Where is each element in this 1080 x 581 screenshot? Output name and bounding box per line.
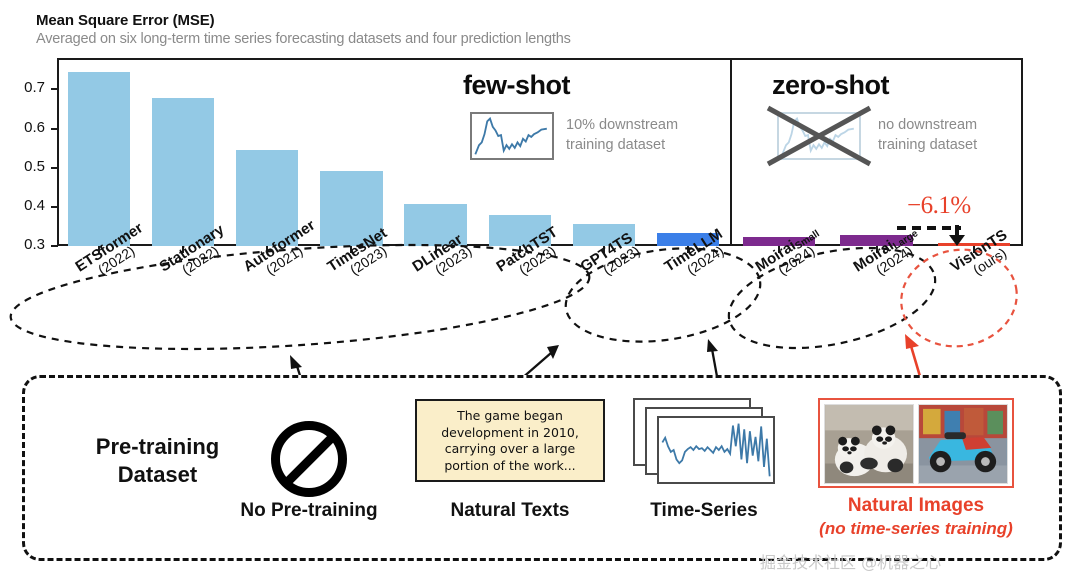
y-tick-label: 0.4 bbox=[5, 197, 45, 214]
zero-shot-desc-line2: training dataset bbox=[878, 136, 1038, 156]
category-label-natural-texts: Natural Texts bbox=[412, 500, 608, 522]
page-subtitle: Averaged on six long-term time series fo… bbox=[36, 31, 571, 47]
category-label-time-series: Time-Series bbox=[606, 500, 802, 522]
few-shot-desc-line2: training dataset bbox=[566, 136, 726, 156]
zero-shot-desc-line1: no downstream bbox=[878, 116, 1038, 136]
few-shot-title: few-shot bbox=[463, 70, 570, 101]
y-tick-label: 0.5 bbox=[5, 158, 45, 175]
y-tick-label: 0.3 bbox=[5, 236, 45, 253]
y-tick-label: 0.6 bbox=[5, 119, 45, 136]
few-shot-description: 10% downstream training dataset bbox=[566, 116, 726, 155]
zero-shot-description: no downstream training dataset bbox=[878, 116, 1038, 155]
category-label-no-pretraining: No Pre-training bbox=[211, 500, 407, 522]
few-shot-desc-line1: 10% downstream bbox=[566, 116, 726, 136]
category-label-natural-images: Natural Images bbox=[818, 495, 1014, 517]
natural-text-card: The game began development in 2010, carr… bbox=[415, 399, 605, 482]
pretraining-dataset-title: Pre-training Dataset bbox=[50, 433, 265, 488]
zero-shot-title: zero-shot bbox=[772, 70, 889, 101]
photo-pandas bbox=[824, 404, 914, 484]
bar-stationary bbox=[152, 98, 214, 246]
pretraining-title-line2: Dataset bbox=[50, 461, 265, 489]
cross-out-icon bbox=[764, 104, 874, 168]
photo-atv bbox=[918, 404, 1008, 484]
few-shot-thumbnail bbox=[470, 112, 554, 160]
improvement-label: −6.1% bbox=[907, 192, 971, 220]
timeseries-card-front bbox=[657, 416, 775, 484]
y-tick-label: 0.7 bbox=[5, 79, 45, 96]
bar-etsformer bbox=[68, 72, 130, 246]
pretraining-title-line1: Pre-training bbox=[50, 433, 265, 461]
improvement-arrow-icon bbox=[895, 222, 1005, 248]
page-title: Mean Square Error (MSE) bbox=[36, 12, 215, 29]
photo-pair-icon bbox=[818, 398, 1014, 488]
watermark: 掘金技术社区 @机器之心 bbox=[760, 549, 941, 573]
category-sublabel-natural-images: (no time-series training) bbox=[790, 519, 1042, 539]
